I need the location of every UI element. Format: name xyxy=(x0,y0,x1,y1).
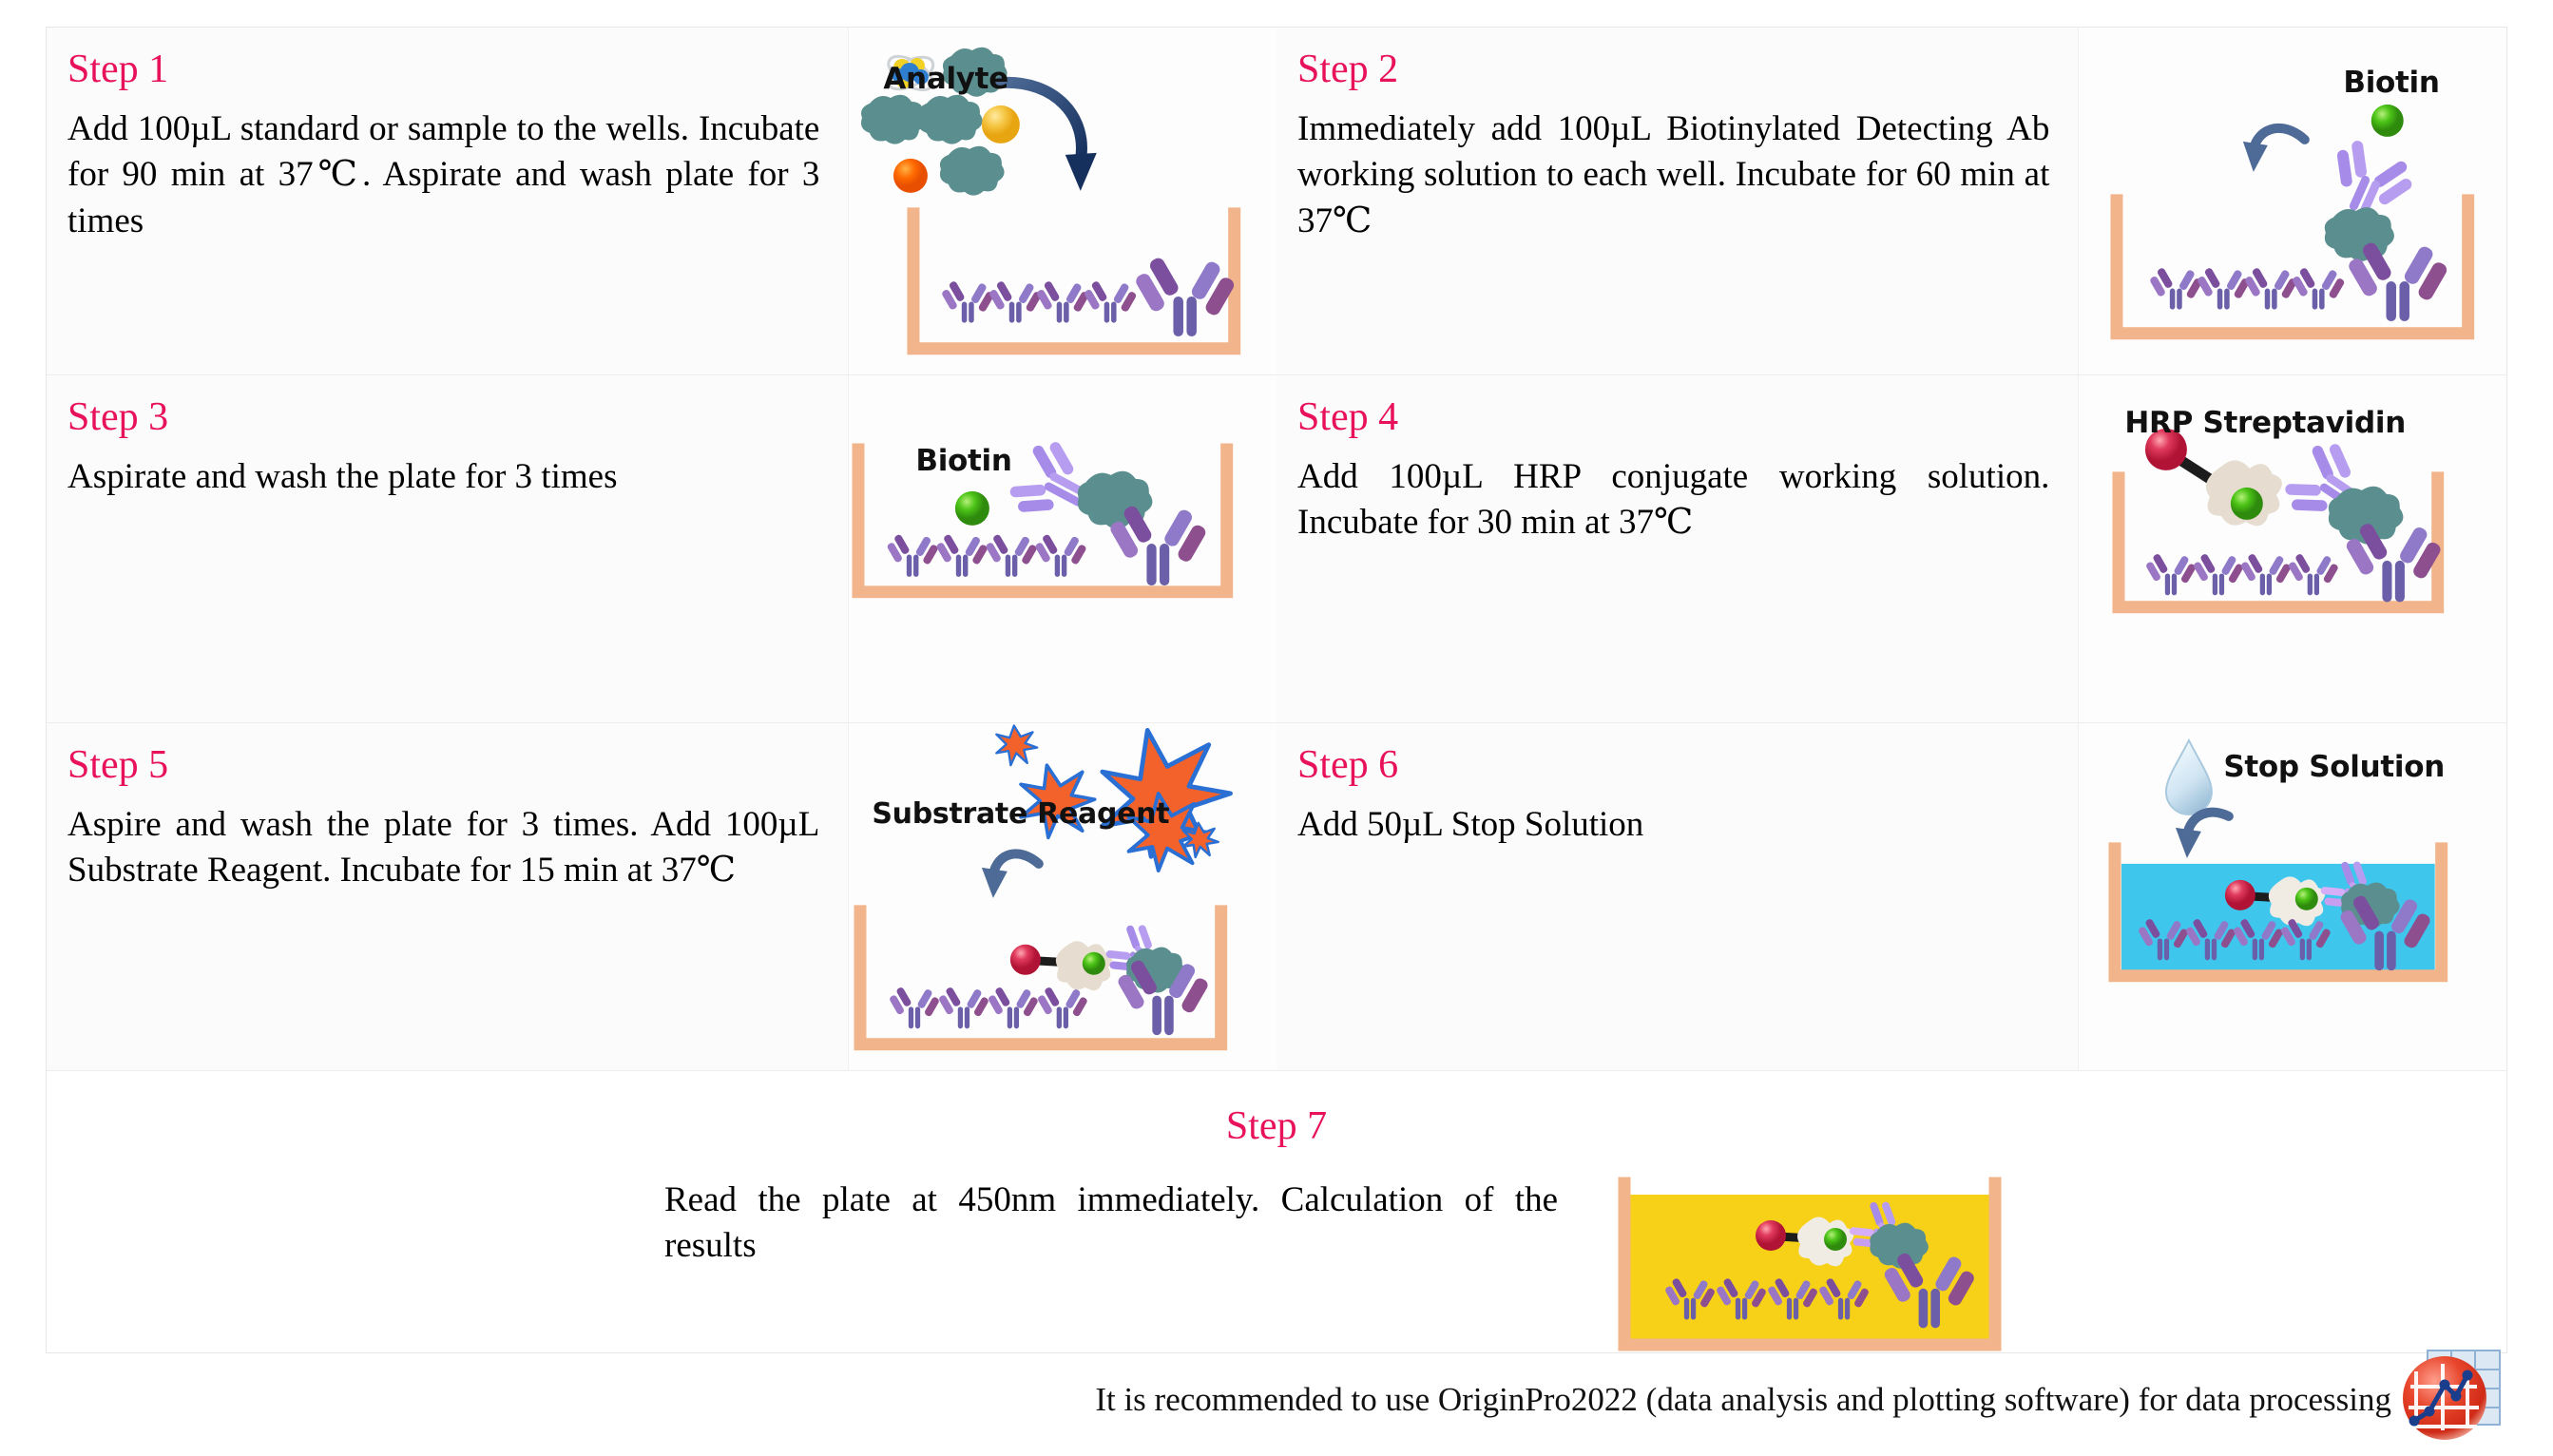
analyte-label: Analyte xyxy=(883,62,1008,96)
step-7-body: Read the plate at 450nm immediately. Cal… xyxy=(664,1178,1558,1269)
step-2-title: Step 2 xyxy=(1297,48,2049,91)
step-1-text-cell: Step 1 Add 100µL standard or sample to t… xyxy=(47,28,849,374)
biotin-sphere xyxy=(2295,888,2318,910)
step-7-title: Step 7 xyxy=(47,1103,2506,1149)
step-5-body: Aspire and wash the plate for 3 times. A… xyxy=(67,802,819,893)
step-3-title: Step 3 xyxy=(67,396,819,439)
table-row-step7: Step 7 Read the plate at 450nm immediate… xyxy=(47,1071,2506,1352)
step-4-illustration: HRP Streptavidin xyxy=(2079,375,2506,722)
step-6-body: Add 50µL Stop Solution xyxy=(1297,802,2049,848)
step-5-title: Step 5 xyxy=(67,744,819,787)
microplate-well xyxy=(913,214,1235,349)
step-7-illustration xyxy=(1615,1178,2014,1368)
step-1-illustration: Analyte xyxy=(849,28,1276,374)
step-5-text-cell: Step 5 Aspire and wash the plate for 3 t… xyxy=(47,723,849,1070)
yellow-analyte-sphere xyxy=(982,105,1020,144)
table-row: Step 1 Add 100µL standard or sample to t… xyxy=(47,28,2506,375)
step-3-illustration: Biotin xyxy=(849,375,1276,722)
slate-curved-arrow-icon xyxy=(2176,813,2229,858)
capture-antibodies xyxy=(887,533,1087,576)
hrp-sphere xyxy=(1756,1220,1786,1251)
biotin-sphere xyxy=(2231,488,2263,520)
table-row: Step 3 Aspirate and wash the plate for 3… xyxy=(47,375,2506,723)
slate-curved-arrow-icon xyxy=(982,853,1039,897)
hrp-sphere xyxy=(1010,945,1041,975)
step-4-title: Step 4 xyxy=(1297,396,2049,439)
table-row: Step 5 Aspire and wash the plate for 3 t… xyxy=(47,723,2506,1071)
capture-antibodies xyxy=(941,280,1138,323)
hrp-sphere xyxy=(2225,880,2255,910)
bound-analyte xyxy=(2325,207,2394,261)
footer-note: It is recommended to use OriginPro2022 (… xyxy=(1095,1381,2401,1419)
capture-antibody-large xyxy=(1134,256,1237,336)
capture-antibodies xyxy=(889,987,1088,1028)
step-2-illustration: Biotin xyxy=(2079,28,2506,374)
originpro-logo xyxy=(2401,1349,2507,1451)
step-6-illustration: Stop Solution xyxy=(2079,723,2506,1070)
steps-table: Step 1 Add 100µL standard or sample to t… xyxy=(46,27,2507,1353)
biotin-sphere xyxy=(955,491,989,526)
step-4-body: Add 100µL HRP conjugate working solution… xyxy=(1297,454,2049,546)
capture-antibodies xyxy=(2149,267,2346,310)
substrate-reagent-label: Substrate Reagent xyxy=(872,797,1169,831)
biotin-label: Biotin xyxy=(2343,66,2439,100)
step-6-text-cell: Step 6 Add 50µL Stop Solution xyxy=(1276,723,2079,1070)
footer: It is recommended to use OriginPro2022 (… xyxy=(46,1367,2507,1433)
stop-solution-label: Stop Solution xyxy=(2223,750,2445,784)
water-drop-icon xyxy=(2166,740,2212,814)
hrp-streptavidin-label: HRP Streptavidin xyxy=(2124,406,2406,440)
step-2-body: Immediately add 100µL Biotinylated Detec… xyxy=(1297,106,2049,243)
biotin-sphere xyxy=(2371,105,2404,137)
step-5-illustration: Substrate Reagent xyxy=(849,723,1276,1070)
step-4-text-cell: Step 4 Add 100µL HRP conjugate working s… xyxy=(1276,375,2079,722)
step-6-title: Step 6 xyxy=(1297,744,2049,787)
capture-antibodies xyxy=(2145,553,2339,595)
elisa-protocol-page: Step 1 Add 100µL standard or sample to t… xyxy=(0,0,2553,1456)
plate-read-450nm-diagram xyxy=(1615,1178,2014,1358)
biotinylated-ab-diagram xyxy=(2079,28,2506,375)
biotin-sphere xyxy=(1083,952,1105,975)
step-3-body: Aspirate and wash the plate for 3 times xyxy=(67,454,819,500)
slate-curved-arrow-icon xyxy=(2243,128,2305,172)
substrate-reagent-diagram xyxy=(849,723,1276,1071)
step-1-title: Step 1 xyxy=(67,48,819,91)
step-3-text-cell: Step 3 Aspirate and wash the plate for 3… xyxy=(47,375,849,722)
biotin-sphere xyxy=(1824,1228,1847,1251)
step-1-body: Add 100µL standard or sample to the well… xyxy=(67,106,819,243)
biotin-label: Biotin xyxy=(915,444,1011,478)
step-2-text-cell: Step 2 Immediately add 100µL Biotinylate… xyxy=(1276,28,2079,374)
orange-analyte-sphere xyxy=(893,159,928,193)
biotin-bound-complex-diagram xyxy=(849,375,1276,723)
